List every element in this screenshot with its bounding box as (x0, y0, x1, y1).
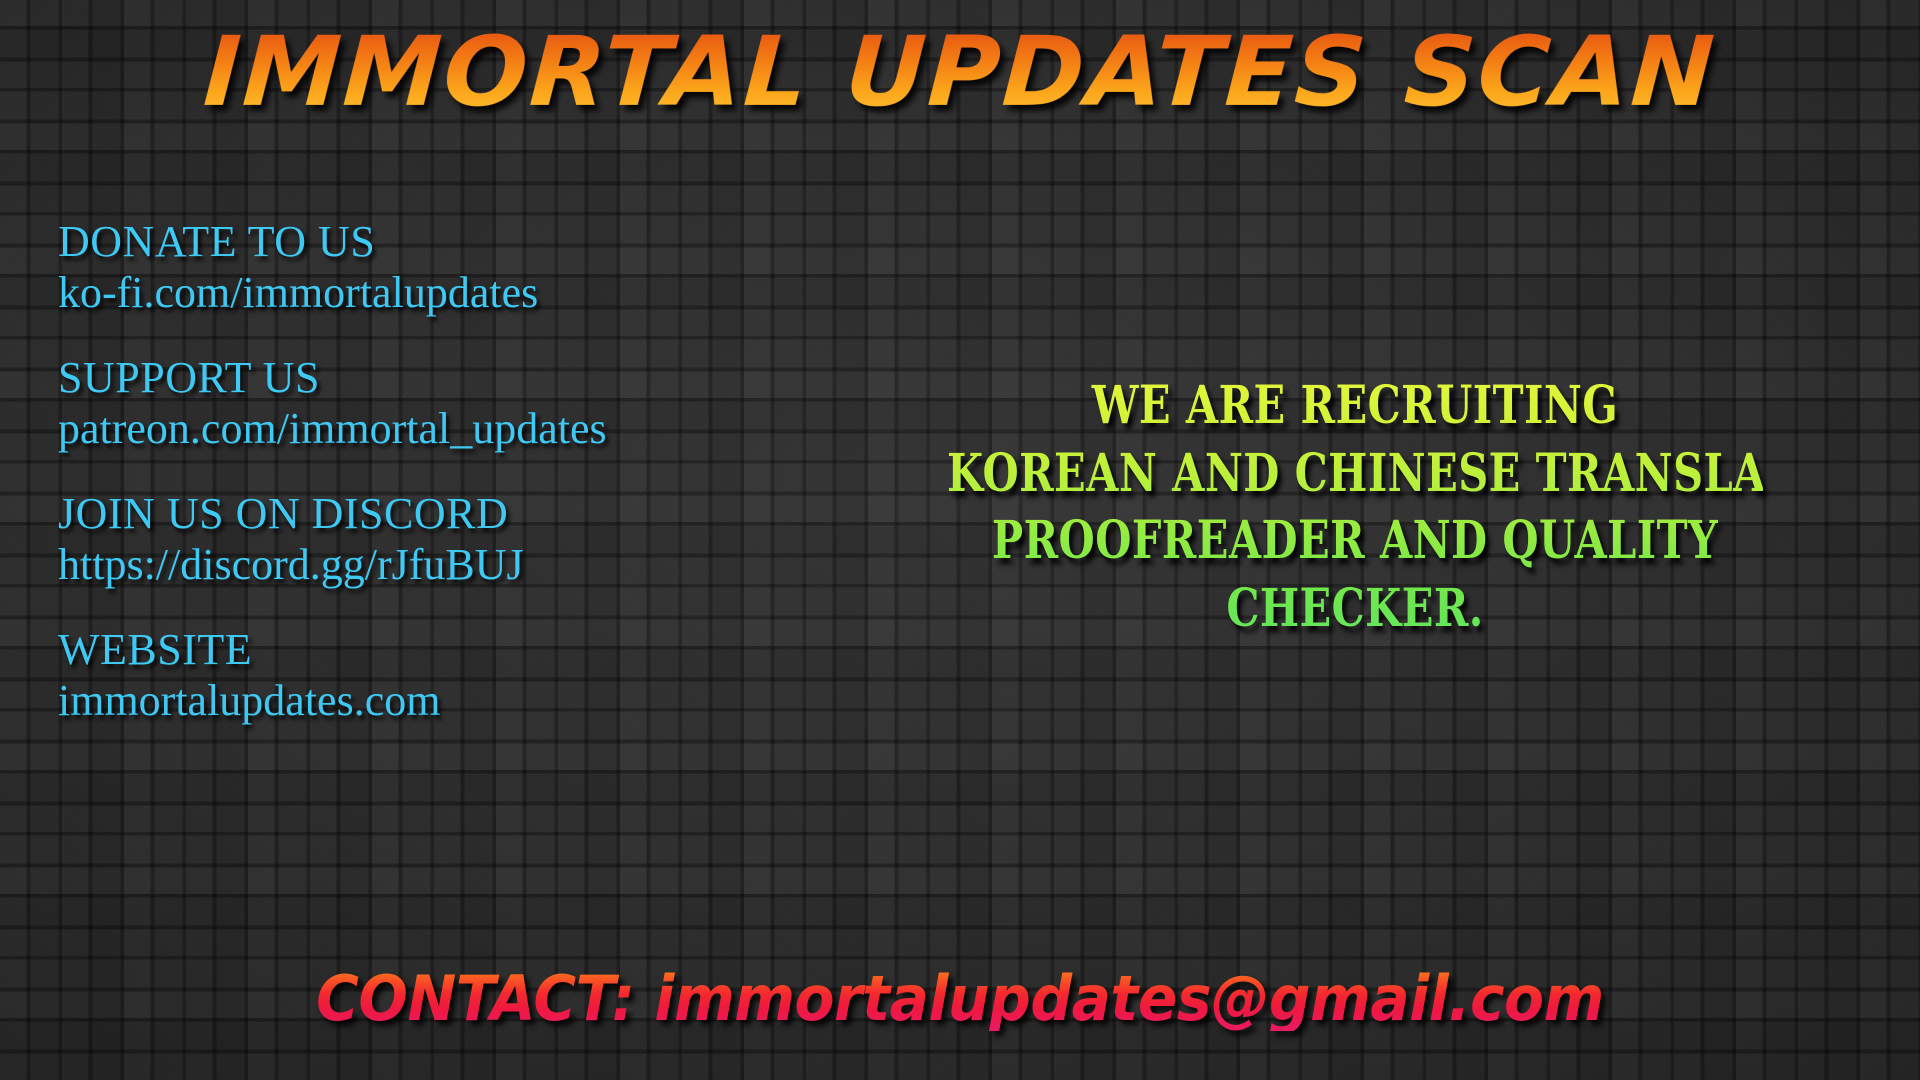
donate-heading: DONATE TO US (58, 216, 848, 267)
donate-link[interactable]: ko-fi.com/immortalupdates (58, 267, 848, 318)
poster-title: IMMORTAL UPDATES SCAN (201, 24, 1718, 120)
recruiting-line-3: PROOFREADER AND QUALITY (947, 507, 1763, 575)
discord-heading: JOIN US ON DISCORD (58, 488, 848, 539)
info-block-website: WEBSITE immortalupdates.com (58, 624, 848, 726)
discord-link[interactable]: https://discord.gg/rJfuBUJ (58, 539, 848, 590)
website-heading: WEBSITE (58, 624, 848, 675)
recruiting-line-1: WE ARE RECRUITING (947, 372, 1763, 440)
recruiting-notice: WE ARE RECRUITING KOREAN AND CHINESE TRA… (845, 372, 1865, 642)
website-link[interactable]: immortalupdates.com (58, 675, 848, 726)
recruiting-line-2: KOREAN AND CHINESE TRANSLATOR, (947, 440, 1763, 508)
contact-row: CONTACT: immortalupdates@gmail.com (0, 966, 1920, 1031)
info-block-donate: DONATE TO US ko-fi.com/immortalupdates (58, 216, 848, 318)
info-column: DONATE TO US ko-fi.com/immortalupdates S… (58, 216, 848, 726)
info-block-support: SUPPORT US patreon.com/immortal_updates (58, 352, 848, 454)
support-heading: SUPPORT US (58, 352, 848, 403)
info-block-discord: JOIN US ON DISCORD https://discord.gg/rJ… (58, 488, 848, 590)
recruiting-line-4: CHECKER. (947, 575, 1763, 643)
support-link[interactable]: patreon.com/immortal_updates (58, 403, 848, 454)
title-row: IMMORTAL UPDATES SCAN (0, 24, 1920, 120)
poster-canvas: IMMORTAL UPDATES SCAN DONATE TO US ko-fi… (0, 0, 1920, 1080)
contact-email[interactable]: CONTACT: immortalupdates@gmail.com (316, 966, 1604, 1031)
